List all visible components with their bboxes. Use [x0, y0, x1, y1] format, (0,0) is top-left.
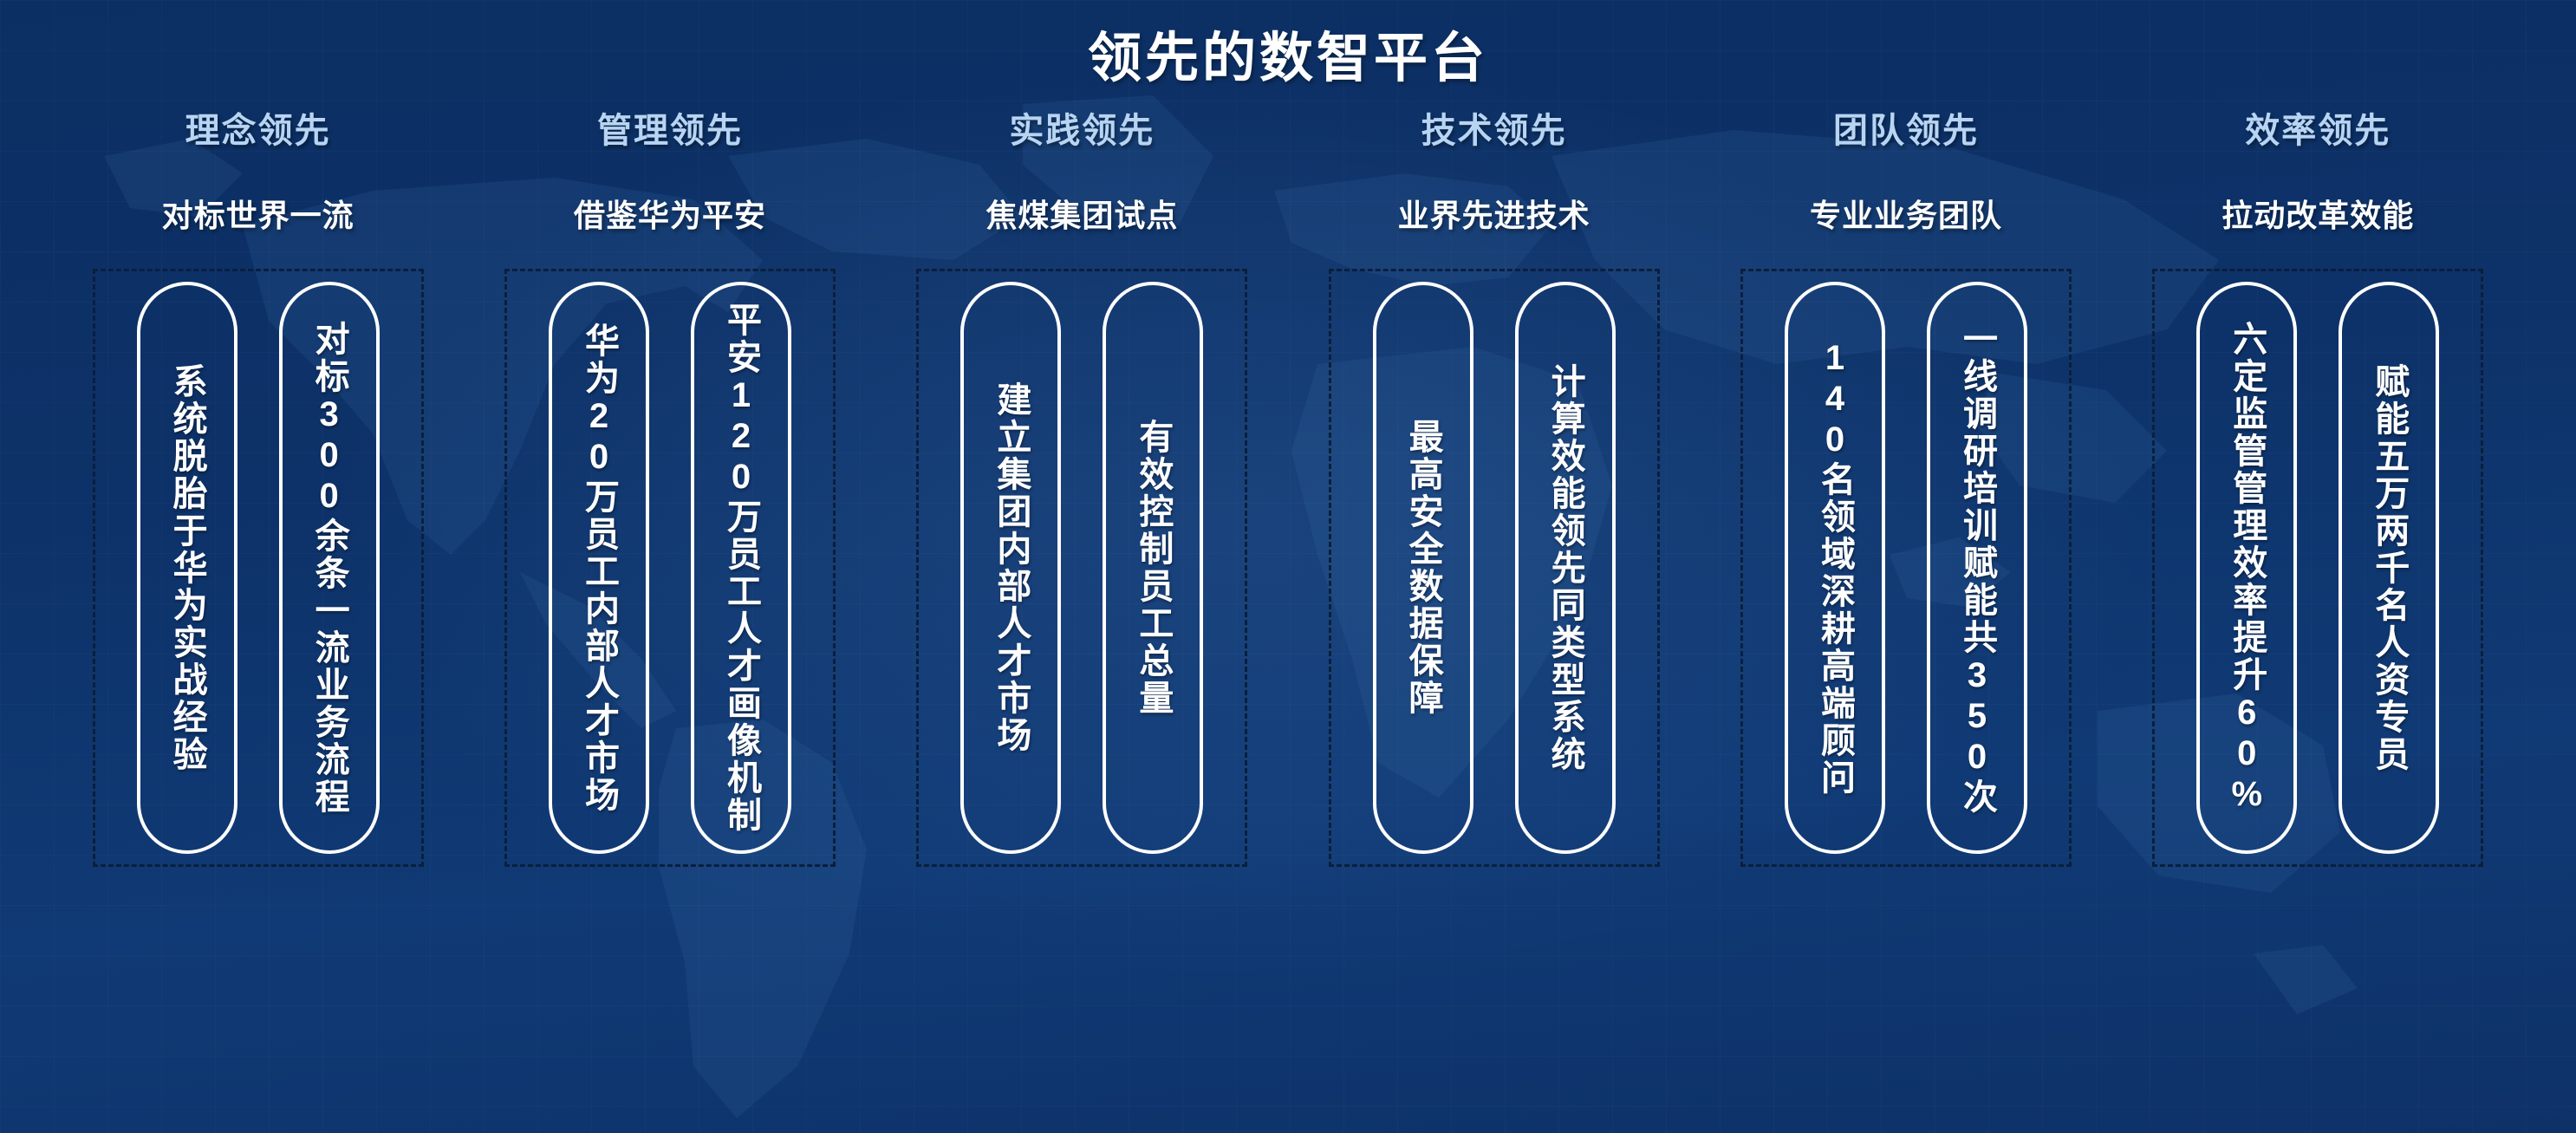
pill-card[interactable]: 有效控制员工总量 — [1103, 282, 1203, 854]
pill-frame: 六定监管管理效率提升60% 赋能五万两千名人资专员 — [2152, 269, 2483, 867]
pill-label: 计算效能领先同类型系统 — [1547, 363, 1584, 773]
pill-card[interactable]: 对标300余条一流业务流程 — [279, 282, 380, 854]
pill-card[interactable]: 最高安全数据保障 — [1373, 282, 1473, 854]
pill-label: 有效控制员工总量 — [1135, 419, 1171, 717]
pill-card[interactable]: 140名领域深耕高端顾问 — [1785, 282, 1885, 854]
pill-frame: 140名领域深耕高端顾问 一线调研培训赋能共350次 — [1740, 269, 2072, 867]
column-subheading: 对标世界一流 — [162, 198, 355, 234]
column-heading: 团队领先 — [1833, 111, 1979, 151]
pill-card[interactable]: 平安120万员工人才画像机制 — [691, 282, 791, 854]
column-efficiency-leading: 效率领先 拉动改革效能 六定监管管理效率提升60% 赋能五万两千名人资专员 — [2112, 111, 2524, 1099]
column-practice-leading: 实践领先 焦煤集团试点 建立集团内部人才市场 有效控制员工总量 — [876, 111, 1288, 1099]
columns-container: 理念领先 对标世界一流 系统脱胎于华为实战经验 对标300余条一流业务流程 管理… — [52, 111, 2524, 1099]
pill-label: 最高安全数据保障 — [1405, 419, 1441, 717]
column-subheading: 焦煤集团试点 — [986, 198, 1178, 234]
pill-card[interactable]: 六定监管管理效率提升60% — [2196, 282, 2297, 854]
column-subheading: 拉动改革效能 — [2221, 198, 2414, 234]
column-technology-leading: 技术领先 业界先进技术 最高安全数据保障 计算效能领先同类型系统 — [1288, 111, 1700, 1099]
pill-card[interactable]: 计算效能领先同类型系统 — [1515, 282, 1616, 854]
pill-frame: 系统脱胎于华为实战经验 对标300余条一流业务流程 — [93, 269, 424, 867]
pill-label: 六定监管管理效率提升60% — [2228, 321, 2265, 816]
pill-card[interactable]: 一线调研培训赋能共350次 — [1927, 282, 2027, 854]
pill-card[interactable]: 建立集团内部人才市场 — [960, 282, 1061, 854]
pill-frame: 华为20万员工内部人才市场 平安120万员工人才画像机制 — [504, 269, 836, 867]
pill-label: 140名领域深耕高端顾问 — [1817, 339, 1853, 797]
pill-frame: 最高安全数据保障 计算效能领先同类型系统 — [1329, 269, 1660, 867]
pill-label: 平安120万员工人才画像机制 — [723, 302, 759, 834]
column-heading: 实践领先 — [1009, 111, 1155, 151]
pill-frame: 建立集团内部人才市场 有效控制员工总量 — [916, 269, 1247, 867]
pill-label: 系统脱胎于华为实战经验 — [169, 363, 205, 773]
pill-label: 一线调研培训赋能共350次 — [1959, 321, 1995, 816]
column-subheading: 业界先进技术 — [1398, 198, 1590, 234]
column-heading: 管理领先 — [597, 111, 743, 151]
pill-label: 对标300余条一流业务流程 — [311, 321, 348, 816]
column-heading: 理念领先 — [185, 111, 331, 151]
pill-label: 建立集团内部人才市场 — [992, 381, 1029, 754]
column-management-leading: 管理领先 借鉴华为平安 华为20万员工内部人才市场 平安120万员工人才画像机制 — [464, 111, 875, 1099]
pill-card[interactable]: 华为20万员工内部人才市场 — [549, 282, 649, 854]
column-subheading: 专业业务团队 — [1810, 198, 2002, 234]
column-team-leading: 团队领先 专业业务团队 140名领域深耕高端顾问 一线调研培训赋能共350次 — [1700, 111, 2111, 1099]
column-idea-leading: 理念领先 对标世界一流 系统脱胎于华为实战经验 对标300余条一流业务流程 — [52, 111, 464, 1099]
pill-card[interactable]: 赋能五万两千名人资专员 — [2339, 282, 2439, 854]
page-title: 领先的数智平台 — [0, 14, 2576, 92]
column-heading: 技术领先 — [1421, 111, 1567, 151]
pill-label: 华为20万员工内部人才市场 — [581, 322, 617, 814]
column-subheading: 借鉴华为平安 — [574, 198, 766, 234]
pill-label: 赋能五万两千名人资专员 — [2371, 363, 2407, 773]
slide-canvas: 领先的数智平台 理念领先 对标世界一流 系统脱胎于华为实战经验 对标300余条一… — [0, 0, 2576, 1133]
pill-card[interactable]: 系统脱胎于华为实战经验 — [137, 282, 237, 854]
column-heading: 效率领先 — [2245, 111, 2391, 151]
